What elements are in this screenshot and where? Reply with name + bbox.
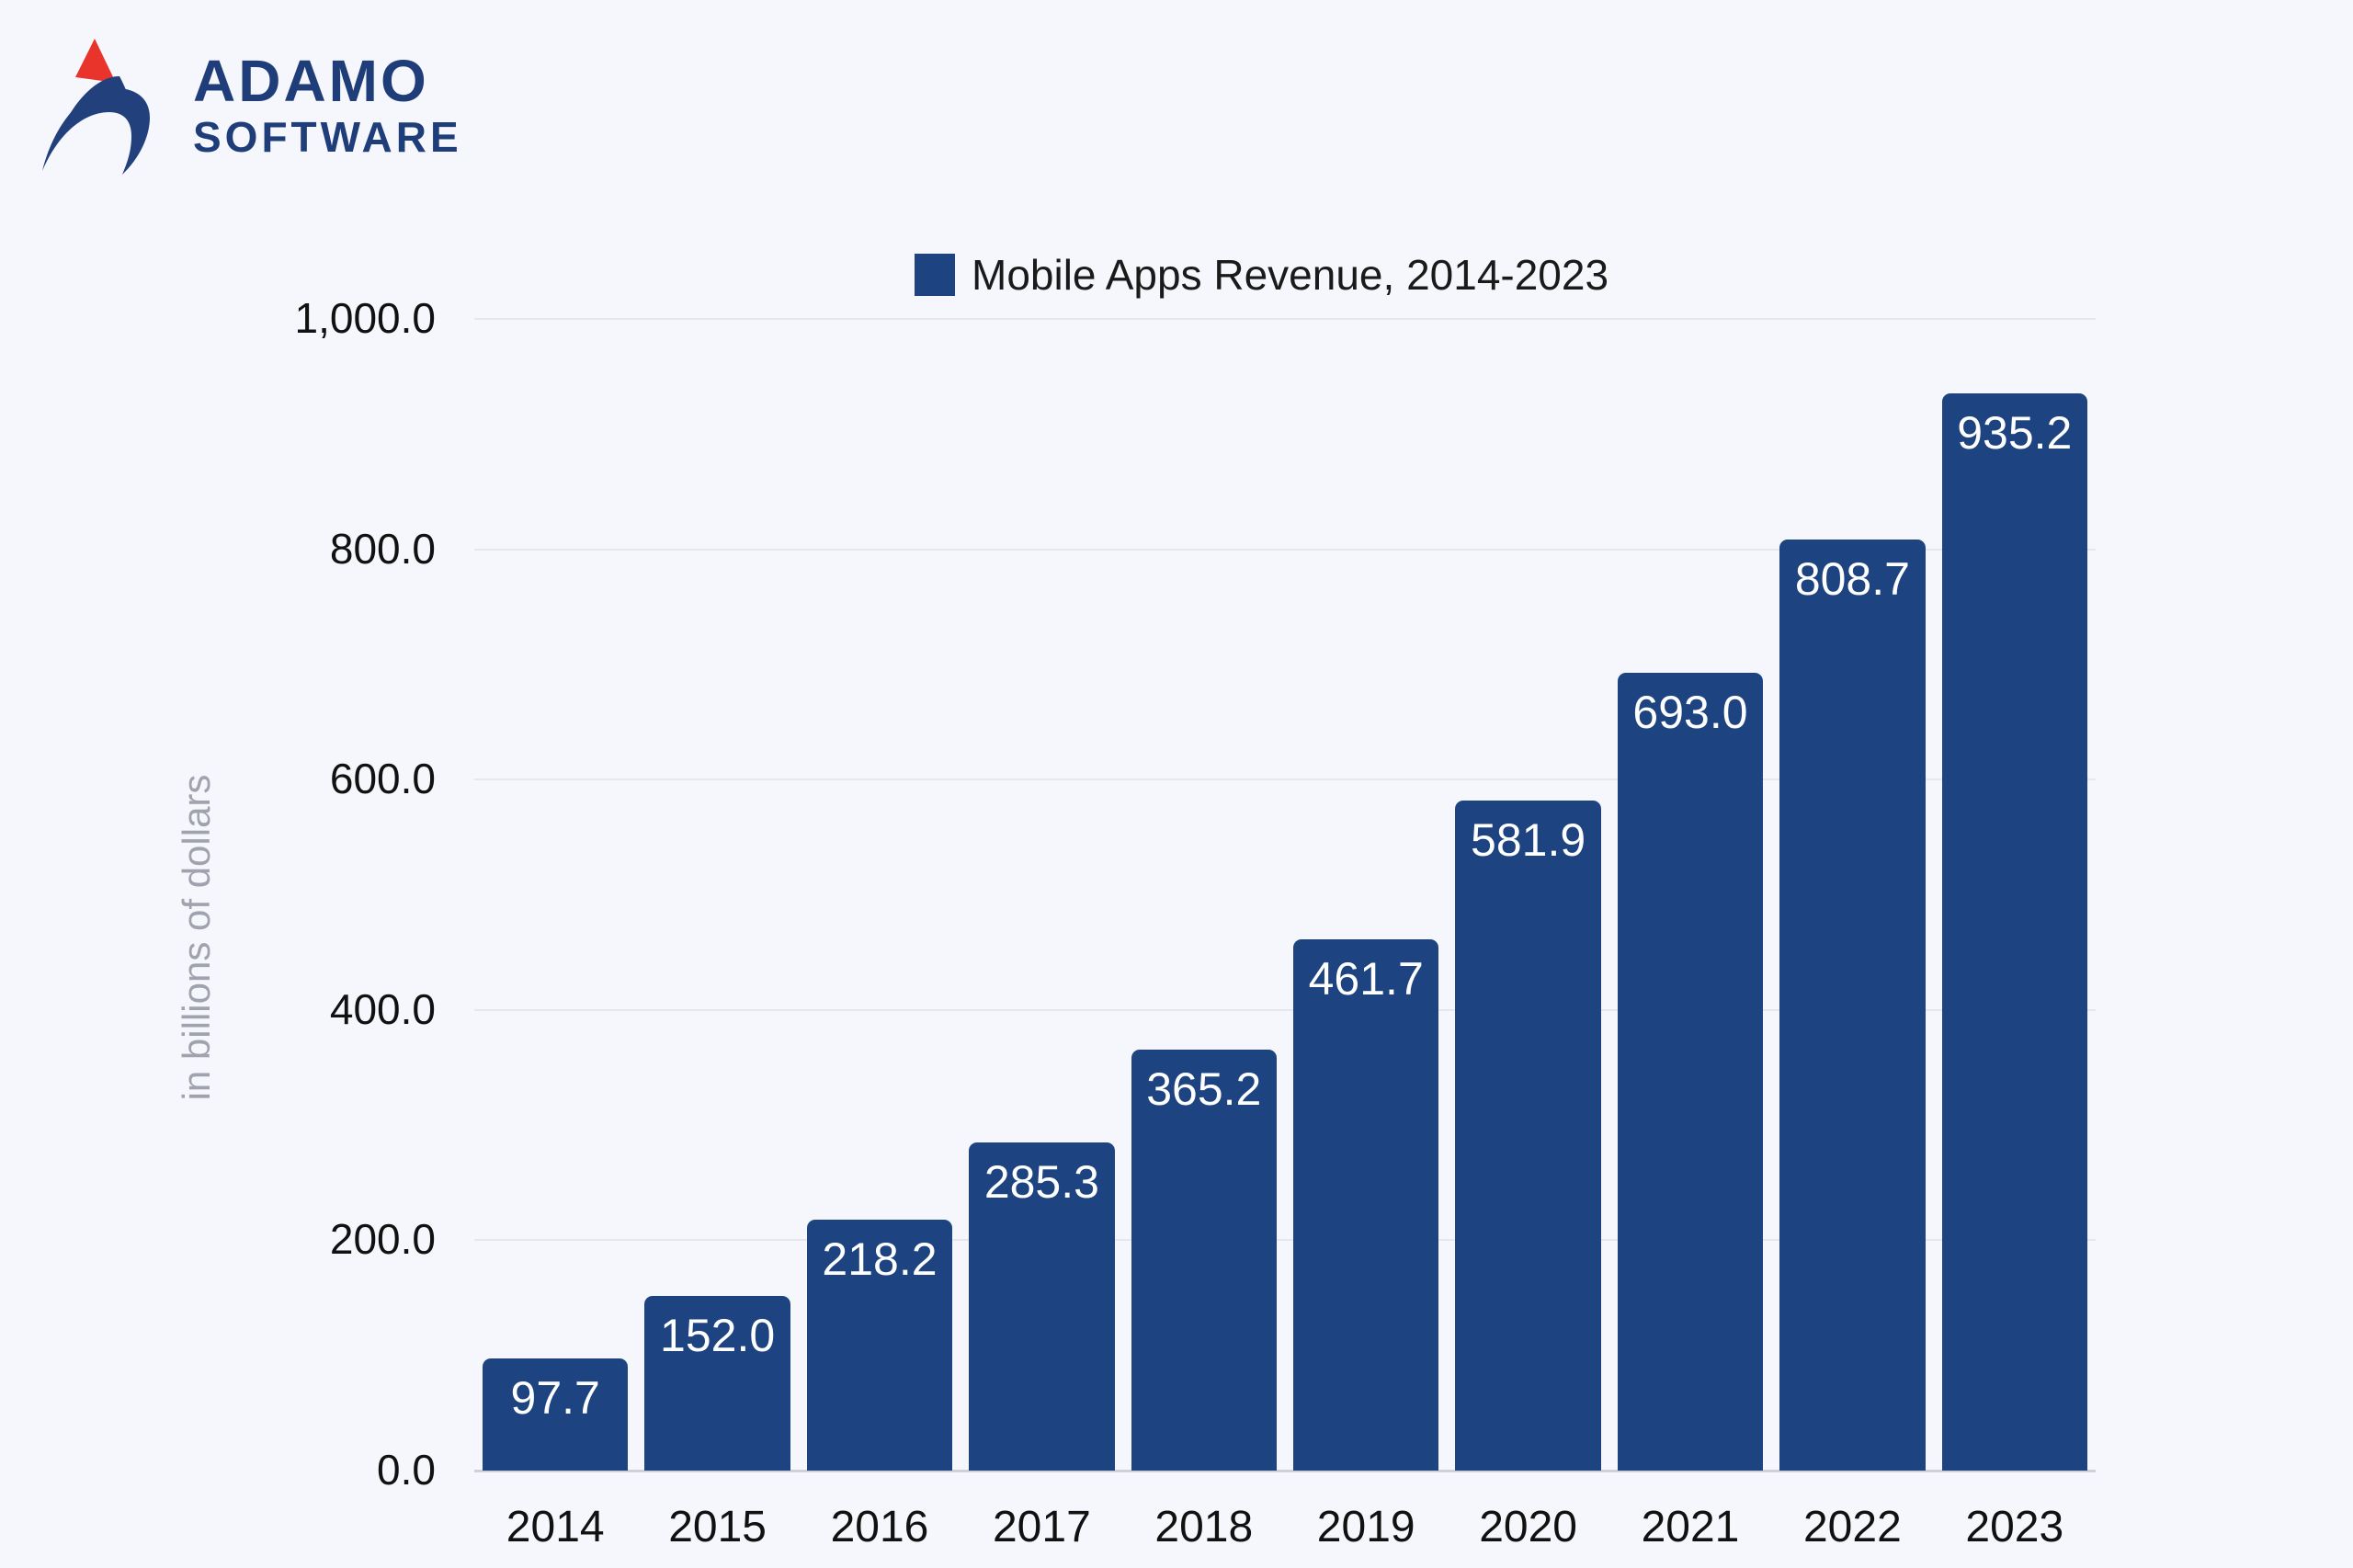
y-axis-tick: 600.0 [330, 757, 436, 800]
x-axis-tick: 2017 [961, 1506, 1122, 1550]
bar-value-label: 935.2 [1942, 410, 2087, 456]
x-axis-tick: 2015 [636, 1506, 798, 1550]
bar[interactable]: 581.9 [1455, 801, 1600, 1471]
chart-legend: Mobile Apps Revenue, 2014-2023 [915, 254, 1608, 296]
revenue-bar-chart: Mobile Apps Revenue, 2014-2023 in billio… [0, 0, 2353, 1568]
bar[interactable]: 808.7 [1779, 540, 1925, 1471]
bar-value-label: 808.7 [1779, 556, 1925, 602]
bar[interactable]: 97.7 [483, 1358, 628, 1471]
y-axis-tick: 400.0 [330, 988, 436, 1030]
bar-value-label: 693.0 [1618, 689, 1763, 735]
y-axis-tick: 1,000.0 [295, 297, 436, 339]
x-axis-tick: 2022 [1771, 1506, 1933, 1550]
bar-value-label: 461.7 [1293, 956, 1438, 1002]
bar[interactable]: 693.0 [1618, 673, 1763, 1471]
y-axis-title: in billions of dollars [177, 775, 216, 1101]
bar-value-label: 152.0 [644, 1312, 790, 1358]
y-axis-tick: 800.0 [330, 528, 436, 570]
bar[interactable]: 218.2 [807, 1220, 952, 1471]
y-axis-tick: 0.0 [377, 1449, 436, 1491]
x-axis-tick: 2023 [1934, 1506, 2096, 1550]
x-axis-tick: 2018 [1123, 1506, 1285, 1550]
bar[interactable]: 461.7 [1293, 939, 1438, 1471]
plot-area: 97.7152.0218.2285.3365.2461.7581.9693.08… [474, 319, 2096, 1471]
bar-value-label: 285.3 [969, 1159, 1114, 1205]
x-axis-tick: 2016 [799, 1506, 961, 1550]
bar[interactable]: 152.0 [644, 1296, 790, 1471]
x-axis-tick: 2019 [1285, 1506, 1447, 1550]
x-axis-tick: 2020 [1447, 1506, 1608, 1550]
bar[interactable]: 365.2 [1131, 1050, 1277, 1471]
bar[interactable]: 285.3 [969, 1142, 1114, 1471]
bar[interactable]: 935.2 [1942, 393, 2087, 1471]
bar-value-label: 581.9 [1455, 817, 1600, 863]
y-axis-tick: 200.0 [330, 1218, 436, 1260]
bar-value-label: 365.2 [1131, 1066, 1277, 1112]
x-axis-tick: 2014 [474, 1506, 636, 1550]
x-axis-tick: 2021 [1609, 1506, 1771, 1550]
bar-value-label: 218.2 [807, 1236, 952, 1282]
legend-label: Mobile Apps Revenue, 2014-2023 [972, 254, 1608, 296]
legend-color-swatch [915, 254, 955, 296]
bar-value-label: 97.7 [483, 1375, 628, 1421]
